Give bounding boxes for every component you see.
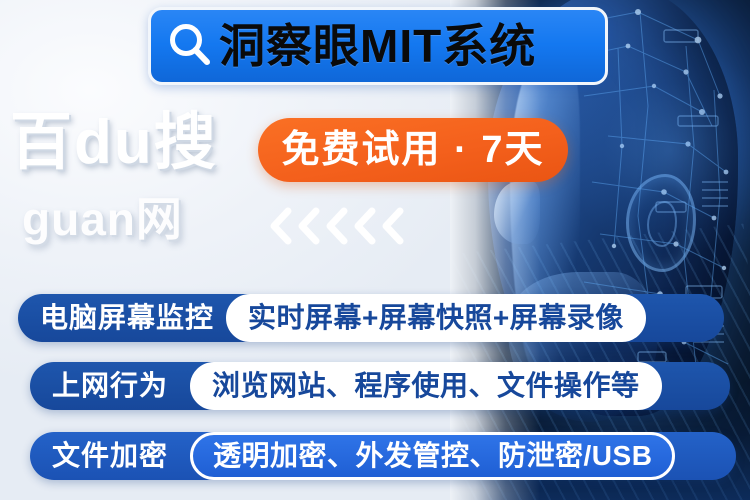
chevron-left-icon (380, 206, 406, 246)
feature-row: 文件加密 透明加密、外发管控、防泄密/USB (30, 432, 736, 480)
feature-row: 上网行为 浏览网站、程序使用、文件操作等 (30, 362, 730, 410)
promo-banner: 洞察眼MIT系统 百du搜 guan网 免费试用 · 7天 电脑屏幕监控 实时屏… (0, 0, 750, 500)
feature-value: 浏览网站、程序使用、文件操作等 (190, 362, 662, 410)
feature-value: 透明加密、外发管控、防泄密/USB (190, 432, 675, 480)
brand-secondary-text: guan网 (22, 196, 183, 242)
chevron-left-icon (268, 206, 294, 246)
free-trial-badge[interactable]: 免费试用 · 7天 (258, 118, 568, 182)
feature-value: 实时屏幕+屏幕快照+屏幕录像 (226, 294, 646, 342)
feature-row: 电脑屏幕监控 实时屏幕+屏幕快照+屏幕录像 (18, 294, 724, 342)
feature-label: 文件加密 (30, 442, 184, 470)
page-title: 洞察眼MIT系统 (219, 23, 536, 69)
free-trial-label: 免费试用 · 7天 (282, 131, 545, 169)
chevron-left-icon (324, 206, 350, 246)
brand-primary-text: 百du搜 (10, 112, 218, 174)
feature-label: 电脑屏幕监控 (18, 304, 230, 332)
chevron-left-icon (296, 206, 322, 246)
search-icon (163, 19, 217, 73)
chevron-group (268, 206, 406, 246)
chevron-left-icon (352, 206, 378, 246)
feature-label: 上网行为 (30, 372, 184, 400)
title-bar: 洞察眼MIT系统 (148, 7, 608, 85)
